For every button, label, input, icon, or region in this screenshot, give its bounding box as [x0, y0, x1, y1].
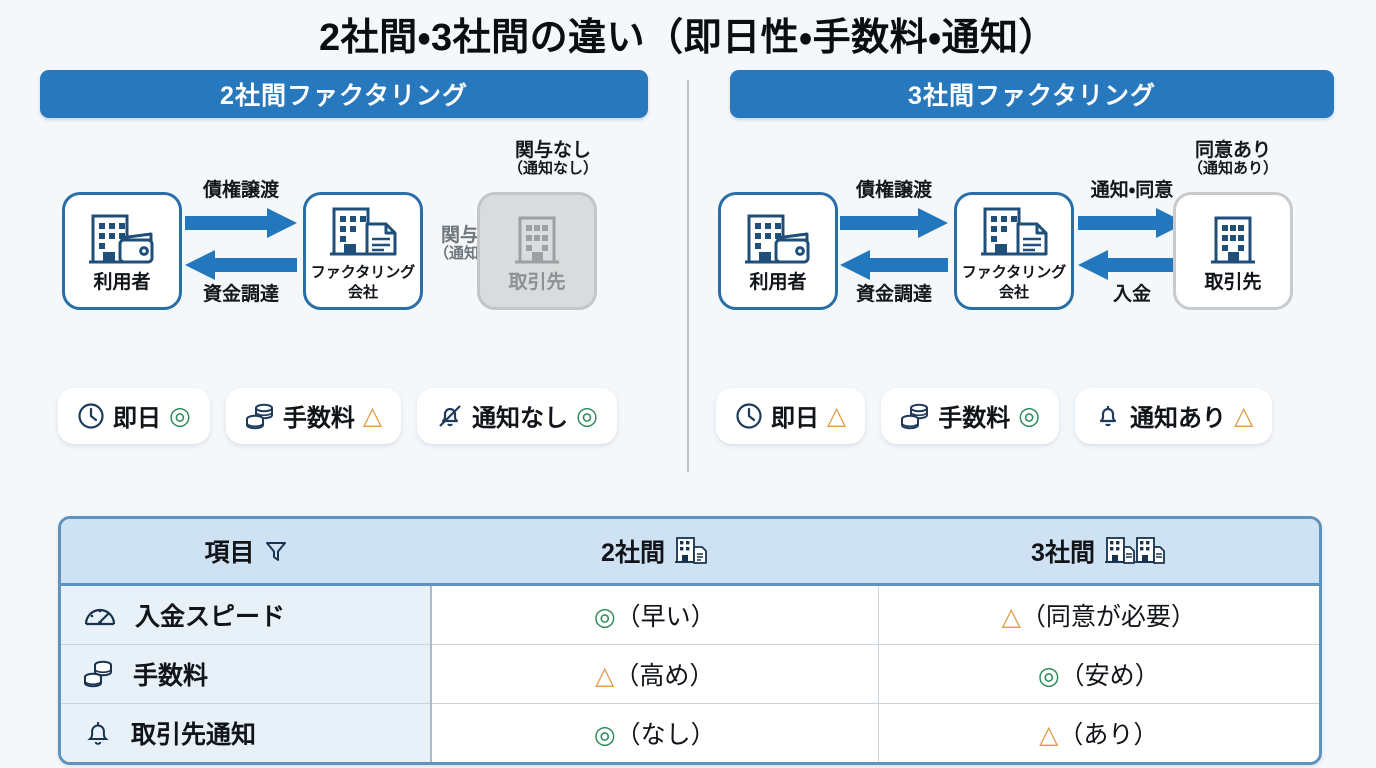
label-payment: 入金 [1076, 284, 1188, 305]
pill-notice-three-mark: △ [1234, 401, 1253, 431]
bell-icon [83, 718, 113, 748]
table-cell-two-2: ◎（なし） [431, 704, 878, 763]
pill-no-notice-two-mark: ◎ [576, 401, 598, 431]
coins-icon [245, 402, 275, 430]
page-title: 2社間・3社間の違い（即日性・手数料・通知） [0, 0, 1376, 62]
table-cell-two-1-mark: △ [595, 662, 614, 690]
arrow-payment [1078, 250, 1186, 272]
clock-icon [77, 402, 105, 430]
label-consent-top-right: 同意あり （通知あり） [1153, 140, 1313, 178]
node-user-left-label: 利用者 [93, 273, 150, 294]
table-cell-item-1: 手数料 [61, 645, 431, 704]
table-cell-three-1-text: （安め） [1060, 662, 1160, 690]
pill-same-day-two-mark: ◎ [169, 401, 191, 431]
table-cell-item-0: 入金スピード [61, 585, 431, 645]
buildings-documents-icon [1104, 536, 1166, 566]
node-factoring-company-right-label-2: 会社 [999, 285, 1029, 301]
pills-two-party: 即日 ◎ 手数料 △ [58, 388, 617, 444]
node-client-left: 取引先 [477, 192, 597, 310]
node-client-right: 取引先 [1173, 192, 1293, 310]
table-cell-item-2-label: 取引先通知 [131, 715, 256, 751]
label-funding-right: 資金調達 [838, 284, 950, 305]
table-cell-two-0: ◎（早い） [431, 585, 878, 645]
speedometer-icon [83, 600, 117, 630]
building-document-icon [329, 200, 397, 262]
arrow-notice-consent [1078, 208, 1186, 230]
table-cell-two-0-text: （早い） [616, 603, 716, 631]
pill-same-day-two-label: 即日 [113, 398, 161, 433]
table-header-two-party: 2社間 [431, 519, 878, 585]
table-row: 取引先通知 ◎（なし） △（あり） [61, 704, 1319, 763]
arrow-transfer-right [840, 208, 948, 230]
table-cell-two-2-mark: ◎ [594, 721, 616, 749]
label-notice-consent: 通知・同意 [1076, 180, 1188, 201]
bell-off-icon [436, 402, 464, 430]
table-cell-two-2-text: （なし） [616, 721, 716, 749]
node-factoring-company-right-label-1: ファクタリング [962, 265, 1066, 281]
arrow-transfer-left [185, 208, 297, 230]
node-factoring-company-right: ファクタリング 会社 [954, 192, 1074, 310]
table-cell-three-2: △（あり） [878, 704, 1319, 763]
pill-no-notice-two-label: 通知なし [472, 398, 568, 433]
panels-container: 2社間ファクタリング [0, 70, 1376, 470]
pills-three-party: 即日 △ 手数料 ◎ [716, 388, 1272, 444]
building-icon-gray [511, 208, 563, 270]
table-cell-item-2: 取引先通知 [61, 704, 431, 763]
table-cell-item-0-label: 入金スピード [135, 597, 285, 633]
table-cell-three-2-text: （あり） [1058, 721, 1158, 749]
label-consent-top-right-sub: （通知あり） [1153, 161, 1313, 178]
pill-fee-two-label: 手数料 [283, 398, 355, 433]
table-cell-three-0-text: （同意が必要） [1021, 603, 1196, 631]
pill-same-day-three-label: 即日 [771, 398, 819, 433]
pill-same-day-three-mark: △ [827, 401, 846, 431]
clock-icon [735, 402, 763, 430]
node-factoring-company-left: ファクタリング 会社 [303, 192, 423, 310]
table-header-three-party-label: 3社間 [1031, 533, 1095, 569]
panel-two-party: 2社間ファクタリング [0, 70, 688, 470]
node-user-right: 利用者 [718, 192, 838, 310]
node-factoring-company-left-label-1: ファクタリング [311, 265, 415, 281]
table-row: 入金スピード ◎（早い） △（同意が必要） [61, 585, 1319, 645]
pill-fee-three[interactable]: 手数料 ◎ [881, 388, 1059, 444]
pill-fee-three-mark: ◎ [1018, 401, 1040, 431]
label-transfer-right: 債権譲渡 [838, 180, 950, 201]
table-cell-two-1-text: （高め） [614, 662, 714, 690]
label-consent-top-right-main: 同意あり [1195, 140, 1271, 161]
pill-notice-three-label: 通知あり [1130, 398, 1226, 433]
table-header-three-party: 3社間 [878, 519, 1319, 585]
bell-icon [1094, 402, 1122, 430]
pill-same-day-three[interactable]: 即日 △ [716, 388, 865, 444]
table-cell-three-0-mark: △ [1002, 603, 1021, 631]
panel-two-party-banner: 2社間ファクタリング [40, 70, 648, 118]
pill-fee-three-label: 手数料 [938, 398, 1010, 433]
table-cell-two-0-mark: ◎ [594, 603, 616, 631]
panel-three-party-banner: 3社間ファクタリング [730, 70, 1334, 118]
table-cell-three-1: ◎（安め） [878, 645, 1319, 704]
table-header-item-label: 項目 [204, 533, 254, 569]
table-row: 手数料 △（高め） ◎（安め） [61, 645, 1319, 704]
label-funding-left: 資金調達 [185, 284, 297, 305]
node-client-right-label: 取引先 [1204, 273, 1261, 294]
table-cell-three-0: △（同意が必要） [878, 585, 1319, 645]
node-factoring-company-left-label-2: 会社 [348, 285, 378, 301]
label-transfer-left: 債権譲渡 [185, 180, 297, 201]
building-document-icon [674, 536, 708, 566]
label-no-involvement-top-left-main: 関与なし [515, 140, 591, 161]
table-cell-three-1-mark: ◎ [1038, 662, 1060, 690]
node-client-left-label: 取引先 [508, 273, 565, 294]
table-cell-three-2-mark: △ [1039, 721, 1058, 749]
building-icon [1207, 208, 1259, 270]
pill-notice-three[interactable]: 通知あり △ [1075, 388, 1272, 444]
building-wallet-icon [87, 208, 157, 270]
table-header-item: 項目 [61, 519, 431, 585]
table-header-two-party-label: 2社間 [601, 533, 665, 569]
label-no-involvement-top-left-sub: （通知なし） [478, 161, 628, 178]
comparison-table: 項目 2社間 [58, 516, 1322, 765]
node-user-right-label: 利用者 [749, 273, 806, 294]
building-wallet-icon [743, 208, 813, 270]
label-no-involvement-top-left: 関与なし （通知なし） [478, 140, 628, 178]
flow-diagram-two-party: 利用者 債権譲渡 資金調達 [0, 132, 688, 342]
building-document-icon [980, 200, 1048, 262]
panel-three-party: 3社間ファクタリング [688, 70, 1376, 470]
table-header-row: 項目 2社間 [61, 519, 1319, 585]
pill-no-notice-two[interactable]: 通知なし ◎ [417, 388, 617, 444]
filter-icon[interactable] [264, 539, 288, 563]
table-cell-item-1-label: 手数料 [133, 656, 208, 692]
pill-fee-two-mark: △ [363, 401, 382, 431]
node-user-left: 利用者 [62, 192, 182, 310]
pill-same-day-two[interactable]: 即日 ◎ [58, 388, 210, 444]
flow-diagram-three-party: 利用者 債権譲渡 資金調達 [688, 132, 1376, 342]
arrow-funding-left [185, 250, 297, 272]
coins-icon [900, 402, 930, 430]
coins-icon [83, 659, 115, 689]
table-cell-two-1: △（高め） [431, 645, 878, 704]
pill-fee-two[interactable]: 手数料 △ [226, 388, 401, 444]
arrow-funding-right [840, 250, 948, 272]
